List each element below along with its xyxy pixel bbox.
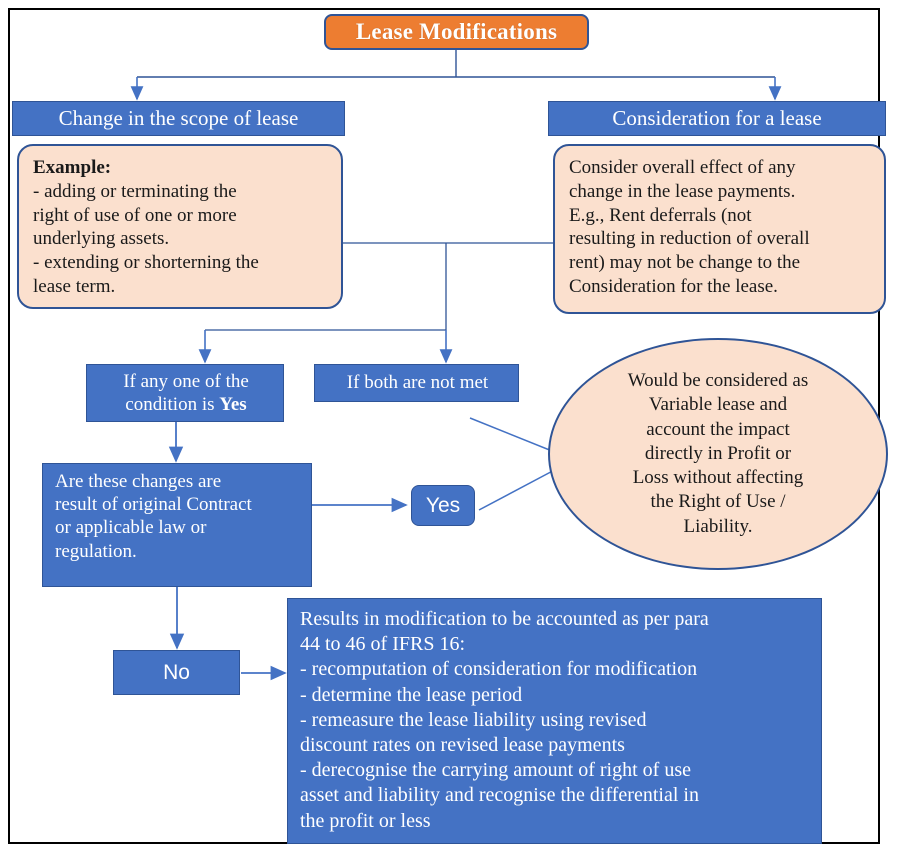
consideration-line-4: resulting in reduction of overall [569, 227, 872, 251]
consideration-body-text: Consider overall effect of any change in… [555, 146, 884, 307]
variable-lease-line-6: the Right of Use / [550, 490, 886, 514]
original-contract-line-3: or applicable law or [55, 516, 301, 539]
variable-lease-text: Would be considered as Variable lease an… [550, 369, 886, 539]
consideration-line-6: Consideration for the lease. [569, 275, 872, 299]
variable-lease-line-2: Variable lease and [550, 393, 886, 417]
results-line-6: discount rates on revised lease payments [300, 733, 809, 758]
results-text: Results in modification to be accounted … [288, 599, 821, 842]
results-line-5: - remeasure the lease liability using re… [300, 708, 809, 733]
consideration-line-5: rent) may not be change to the [569, 251, 872, 275]
both-not-met-label: If both are not met [315, 365, 518, 400]
example-line-5: lease term. [33, 275, 329, 299]
original-contract-line-1: Are these changes are [55, 470, 301, 493]
variable-lease-line-1: Would be considered as [550, 369, 886, 393]
results-line-7: - derecognise the carrying amount of rig… [300, 758, 809, 783]
node-scope-header[interactable]: Change in the scope of lease [12, 101, 345, 136]
example-line-2: right of use of one or more [33, 204, 329, 228]
original-contract-line-2: result of original Contract [55, 493, 301, 516]
variable-lease-line-7: Liability. [550, 515, 886, 539]
variable-lease-line-4: directly in Profit or [550, 442, 886, 466]
no-label: No [114, 661, 239, 685]
node-any-one-condition[interactable]: If any one of the condition is Yes [86, 364, 284, 422]
original-contract-text: Are these changes are result of original… [43, 464, 311, 569]
example-line-1: - adding or terminating the [33, 180, 329, 204]
node-both-not-met[interactable]: If both are not met [314, 364, 519, 402]
results-line-1: Results in modification to be accounted … [300, 607, 809, 632]
consideration-line-1: Consider overall effect of any [569, 156, 872, 180]
results-line-8: asset and liability and recognise the di… [300, 783, 809, 808]
node-consideration-header[interactable]: Consideration for a lease [548, 101, 886, 136]
consideration-line-2: change in the lease payments. [569, 180, 872, 204]
yes-label: Yes [412, 494, 474, 518]
node-results[interactable]: Results in modification to be accounted … [287, 598, 822, 844]
title-label: Lease Modifications [326, 19, 587, 45]
variable-lease-line-5: Loss without affecting [550, 466, 886, 490]
node-no[interactable]: No [113, 650, 240, 695]
any-one-condition-text: If any one of the condition is Yes [87, 364, 283, 422]
example-line-4: - extending or shorterning the [33, 251, 329, 275]
any-one-condition-line-2: condition is Yes [99, 393, 273, 416]
scope-header-label: Change in the scope of lease [13, 106, 344, 131]
consideration-line-3: E.g., Rent deferrals (not [569, 204, 872, 228]
any-one-condition-line-1: If any one of the [99, 370, 273, 393]
node-original-contract[interactable]: Are these changes are result of original… [42, 463, 312, 587]
node-title[interactable]: Lease Modifications [324, 14, 589, 50]
node-variable-lease[interactable]: Would be considered as Variable lease an… [548, 338, 888, 570]
node-yes[interactable]: Yes [411, 485, 475, 526]
results-line-4: - determine the lease period [300, 683, 809, 708]
results-line-9: the profit or less [300, 809, 809, 834]
original-contract-line-4: regulation. [55, 540, 301, 563]
any-one-condition-line-2-bold: Yes [219, 394, 246, 415]
flowchart-canvas: Lease Modifications Change in the scope … [0, 0, 898, 862]
results-line-2: 44 to 46 of IFRS 16: [300, 632, 809, 657]
node-consideration-body[interactable]: Consider overall effect of any change in… [553, 144, 886, 314]
example-heading: Example: [33, 156, 329, 180]
example-line-3: underlying assets. [33, 227, 329, 251]
results-line-3: - recomputation of consideration for mod… [300, 657, 809, 682]
any-one-condition-line-2-prefix: condition is [125, 394, 219, 415]
example-text: Example: - adding or terminating the rig… [19, 146, 341, 307]
variable-lease-line-3: account the impact [550, 418, 886, 442]
node-example[interactable]: Example: - adding or terminating the rig… [17, 144, 343, 309]
consideration-header-label: Consideration for a lease [549, 106, 885, 131]
